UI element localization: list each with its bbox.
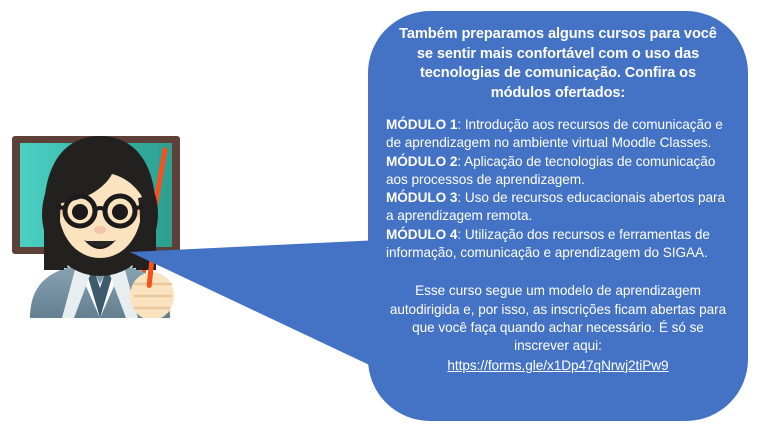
closing-text-block: Esse curso segue um modelo de aprendizag…	[386, 282, 730, 374]
module-separator: :	[457, 117, 464, 132]
closing-text: Esse curso segue um modelo de aprendizag…	[390, 283, 726, 353]
module-label: MÓDULO 1	[386, 117, 457, 132]
teacher-illustration	[0, 118, 200, 318]
module-item: MÓDULO 3: Uso de recursos educacionais a…	[386, 189, 728, 226]
bubble-heading: Também preparamos alguns cursos para voc…	[392, 25, 724, 103]
module-label: MÓDULO 3	[386, 190, 457, 205]
module-item: MÓDULO 4: Utilização dos recursos e ferr…	[386, 226, 728, 263]
modules-list: MÓDULO 1: Introdução aos recursos de com…	[386, 116, 728, 262]
module-label: MÓDULO 2	[386, 154, 457, 169]
module-item: MÓDULO 1: Introdução aos recursos de com…	[386, 116, 728, 153]
module-separator: :	[457, 190, 464, 205]
speech-bubble: Também preparamos alguns cursos para voc…	[368, 11, 748, 421]
module-item: MÓDULO 2: Aplicação de tecnologias de co…	[386, 153, 728, 190]
woman-teacher-icon	[0, 118, 200, 318]
module-separator: :	[457, 227, 464, 242]
signup-link[interactable]: https://forms.gle/x1Dp47qNrwj2tiPw9	[447, 357, 668, 375]
module-label: MÓDULO 4	[386, 227, 457, 242]
